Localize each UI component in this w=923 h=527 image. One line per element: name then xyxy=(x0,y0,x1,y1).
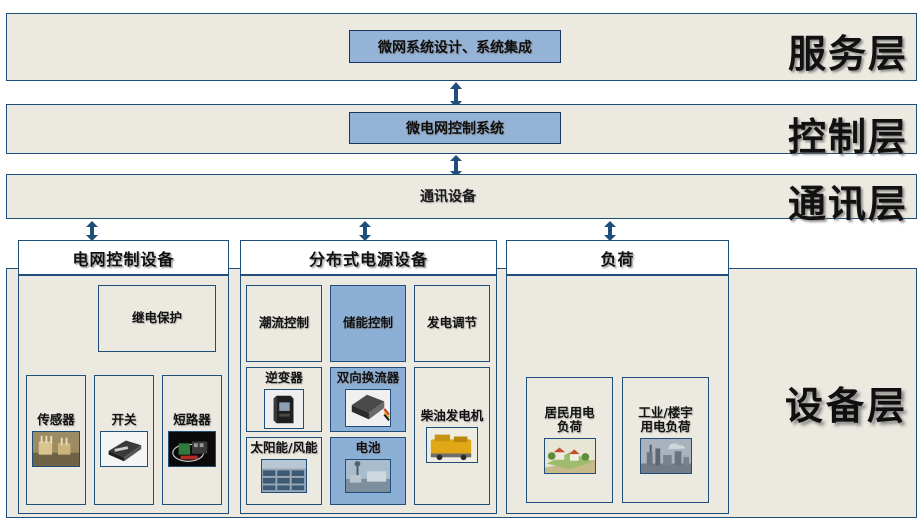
block-label: 双向换流器 xyxy=(337,371,400,385)
block-label: 太阳能/风能 xyxy=(250,441,317,455)
block-label: 储能控制 xyxy=(343,316,393,330)
block-generation-regulation[interactable]: 发电调节 xyxy=(414,285,490,362)
block-label: 传感器 xyxy=(37,413,75,427)
equipment-layer-title: 设备层 xyxy=(785,375,908,430)
column-header-distributed-power: 分布式电源设备 xyxy=(240,240,497,275)
block-relay-protection[interactable]: 继电保护 xyxy=(98,285,216,352)
service-layer-box[interactable]: 微网系统设计、系统集成 xyxy=(349,30,561,63)
sensor-photo xyxy=(32,431,80,467)
service-layer-title: 服务层 xyxy=(788,23,908,78)
column-header-load: 负荷 xyxy=(506,240,729,275)
block-label-line2: 负荷 xyxy=(557,420,582,434)
village-photo xyxy=(544,438,596,474)
block-battery[interactable]: 电池 xyxy=(330,437,406,505)
block-label: 柴油发电机 xyxy=(421,409,484,423)
block-residential-load[interactable]: 居民用电 负荷 xyxy=(526,377,613,503)
converter-photo xyxy=(345,389,391,427)
column-header-grid-control: 电网控制设备 xyxy=(18,240,229,275)
block-power-flow-control[interactable]: 潮流控制 xyxy=(246,285,322,362)
block-label-line2: 用电负荷 xyxy=(640,420,690,434)
double-arrow-icon xyxy=(603,221,617,241)
control-layer-title: 控制层 xyxy=(788,106,908,161)
solar-panel-photo xyxy=(261,459,307,493)
block-breaker[interactable]: 短路器 xyxy=(162,375,222,505)
block-label: 发电调节 xyxy=(427,316,477,330)
block-label-line1: 工业/楼宇 xyxy=(638,406,693,420)
block-label: 开关 xyxy=(111,413,136,427)
double-arrow-icon xyxy=(358,221,372,241)
block-label: 逆变器 xyxy=(265,371,303,385)
block-inverter[interactable]: 逆变器 xyxy=(246,367,322,432)
factory-photo xyxy=(640,438,692,474)
block-diesel-generator[interactable]: 柴油发电机 xyxy=(414,367,490,505)
block-label: 潮流控制 xyxy=(259,316,309,330)
block-label: 电池 xyxy=(355,441,380,455)
block-switch[interactable]: 开关 xyxy=(94,375,154,505)
control-layer-box[interactable]: 微电网控制系统 xyxy=(349,112,561,144)
communication-device-label: 通讯设备 xyxy=(420,186,476,206)
block-label: 继电保护 xyxy=(132,311,182,325)
generator-photo xyxy=(426,427,478,463)
block-industrial-load[interactable]: 工业/楼宇 用电负荷 xyxy=(622,377,709,503)
battery-photo xyxy=(345,459,391,493)
switch-photo xyxy=(100,431,148,467)
breaker-photo xyxy=(168,431,216,467)
communication-layer-title: 通讯层 xyxy=(788,173,908,228)
block-label: 短路器 xyxy=(173,413,211,427)
block-bidirectional-converter[interactable]: 双向换流器 xyxy=(330,367,406,432)
block-solar-wind[interactable]: 太阳能/风能 xyxy=(246,437,322,505)
block-storage-control[interactable]: 储能控制 xyxy=(330,285,406,362)
inverter-photo xyxy=(264,389,304,429)
double-arrow-icon xyxy=(85,221,99,241)
block-label-line1: 居民用电 xyxy=(544,406,594,420)
block-sensor[interactable]: 传感器 xyxy=(26,375,86,505)
